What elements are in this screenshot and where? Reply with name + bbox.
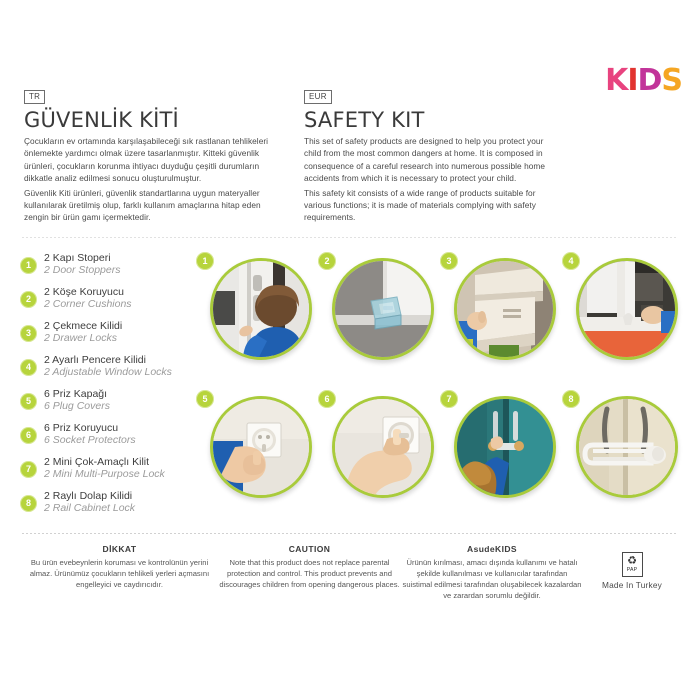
header-section: TR GÜVENLİK KİTİ Çocukların ev ortamında…	[24, 86, 684, 226]
list-bullet-1: 1	[20, 257, 37, 274]
list-item: 5 6 Priz Kapağı 6 Plug Covers	[20, 388, 195, 412]
photo-frame-6	[332, 396, 434, 498]
photo-frame-5	[210, 396, 312, 498]
photo-cell-6: 6	[318, 390, 440, 528]
header-column-tr: TR GÜVENLİK KİTİ Çocukların ev ortamında…	[24, 86, 274, 226]
photo-frame-3	[454, 258, 556, 360]
footer-body-dikkat: Bu ürün evebeynlerin koruması ve kontrol…	[22, 557, 217, 590]
product-name-tr-2: 2 Köşe Koruyucu	[44, 286, 195, 298]
list-item: 6 6 Priz Koruyucu 6 Socket Protectors	[20, 422, 195, 446]
photo-window-lock	[579, 261, 675, 357]
language-badge-tr: TR	[24, 90, 45, 104]
product-name-tr-3: 2 Çekmece Kilidi	[44, 320, 195, 332]
photo-cell-2: 2	[318, 252, 440, 390]
product-name-tr-5: 6 Priz Kapağı	[44, 388, 195, 400]
photo-number-3: 3	[440, 252, 458, 270]
photo-row-1: 1	[196, 252, 686, 390]
page-title-eur: SAFETY KIT	[304, 108, 554, 132]
photo-number-1: 1	[196, 252, 214, 270]
list-bullet-3: 3	[20, 325, 37, 342]
footer-column-dikkat: DİKKAT Bu ürün evebeynlerin koruması ve …	[22, 544, 217, 601]
intro-paragraph-tr-1: Çocukların ev ortamında karşılaşabileceğ…	[24, 135, 274, 185]
product-name-tr-8: 2 Raylı Dolap Kilidi	[44, 490, 195, 502]
list-item: 7 2 Mini Çok-Amaçlı Kilit 2 Mini Multi-P…	[20, 456, 195, 480]
photo-frame-8	[576, 396, 678, 498]
product-name-en-7: 2 Mini Multi-Purpose Lock	[44, 468, 195, 481]
product-name-tr-4: 2 Ayarlı Pencere Kilidi	[44, 354, 195, 366]
photo-multi-purpose-lock	[457, 399, 553, 495]
pap-label: PAP	[627, 567, 638, 573]
photo-number-6: 6	[318, 390, 336, 408]
footer-heading-dikkat: DİKKAT	[22, 544, 217, 554]
made-in-turkey-label: Made In Turkey	[582, 580, 682, 590]
list-item: 2 2 Köşe Koruyucu 2 Corner Cushions	[20, 286, 195, 310]
list-bullet-2: 2	[20, 291, 37, 308]
footer-column-recycle: ♻ PAP Made In Turkey	[582, 544, 682, 601]
product-name-en-2: 2 Corner Cushions	[44, 298, 195, 311]
photo-rail-cabinet-lock	[579, 399, 675, 495]
product-name-en-1: 2 Door Stoppers	[44, 264, 195, 277]
photo-frame-2	[332, 258, 434, 360]
intro-paragraph-en-1: This set of safety products are designed…	[304, 135, 554, 185]
divider-bottom	[22, 533, 678, 534]
photo-cell-5: 5	[196, 390, 318, 528]
intro-paragraph-tr-2: Güvenlik Kiti ürünleri, güvenlik standar…	[24, 187, 274, 224]
photo-cell-3: 3	[440, 252, 562, 390]
divider-top	[22, 237, 678, 238]
photo-door-stopper	[213, 261, 309, 357]
product-list: 1 2 Kapı Stoperi 2 Door Stoppers 2 2 Köş…	[20, 252, 195, 524]
product-name-en-8: 2 Rail Cabinet Lock	[44, 502, 195, 515]
list-bullet-5: 5	[20, 393, 37, 410]
list-bullet-8: 8	[20, 495, 37, 512]
photo-cell-4: 4	[562, 252, 684, 390]
photo-frame-4	[576, 258, 678, 360]
product-name-tr-7: 2 Mini Çok-Amaçlı Kilit	[44, 456, 195, 468]
intro-paragraph-en-2: This safety kit consists of a wide range…	[304, 187, 554, 224]
photo-cell-7: 7	[440, 390, 562, 528]
photo-frame-1	[210, 258, 312, 360]
photo-socket-protector	[335, 399, 431, 495]
product-name-tr-1: 2 Kapı Stoperi	[44, 252, 195, 264]
page-title-tr: GÜVENLİK KİTİ	[24, 108, 274, 132]
list-item: 4 2 Ayarlı Pencere Kilidi 2 Adjustable W…	[20, 354, 195, 378]
product-name-en-5: 6 Plug Covers	[44, 400, 195, 413]
product-name-tr-6: 6 Priz Koruyucu	[44, 422, 195, 434]
list-item: 1 2 Kapı Stoperi 2 Door Stoppers	[20, 252, 195, 276]
list-item: 8 2 Raylı Dolap Kilidi 2 Rail Cabinet Lo…	[20, 490, 195, 514]
language-badge-eur: EUR	[304, 90, 332, 104]
photo-number-4: 4	[562, 252, 580, 270]
photo-corner-cushion	[335, 261, 431, 357]
product-name-en-3: 2 Drawer Locks	[44, 332, 195, 345]
photo-row-2: 5	[196, 390, 686, 528]
photo-number-5: 5	[196, 390, 214, 408]
photo-cell-8: 8	[562, 390, 684, 528]
product-name-en-4: 2 Adjustable Window Locks	[44, 366, 195, 379]
product-name-en-6: 6 Socket Protectors	[44, 434, 195, 447]
list-bullet-7: 7	[20, 461, 37, 478]
footer-heading-asudekids: AsudeKIDS	[402, 544, 582, 554]
list-bullet-4: 4	[20, 359, 37, 376]
photo-number-7: 7	[440, 390, 458, 408]
footer-body-caution: Note that this product does not replace …	[217, 557, 402, 590]
footer-section: DİKKAT Bu ürün evebeynlerin koruması ve …	[22, 544, 682, 601]
list-item: 3 2 Çekmece Kilidi 2 Drawer Locks	[20, 320, 195, 344]
pap-recycle-icon: ♻ PAP	[622, 552, 643, 577]
photo-number-8: 8	[562, 390, 580, 408]
header-column-eur: EUR SAFETY KIT This set of safety produc…	[304, 86, 554, 226]
footer-column-caution: CAUTION Note that this product does not …	[217, 544, 402, 601]
photo-number-2: 2	[318, 252, 336, 270]
product-photo-grid: 1	[196, 252, 686, 528]
footer-column-asudekids: AsudeKIDS Ürünün kırılması, amacı dışınd…	[402, 544, 582, 601]
footer-body-asudekids: Ürünün kırılması, amacı dışında kullanım…	[402, 557, 582, 601]
footer-heading-caution: CAUTION	[217, 544, 402, 554]
photo-plug-cover	[213, 399, 309, 495]
photo-cell-1: 1	[196, 252, 318, 390]
photo-drawer-lock	[457, 261, 553, 357]
recycle-symbol: ♻	[627, 556, 637, 566]
safety-kit-poster: KIDS TR GÜVENLİK KİTİ Çocukların ev orta…	[0, 0, 700, 700]
list-bullet-6: 6	[20, 427, 37, 444]
photo-frame-7	[454, 396, 556, 498]
